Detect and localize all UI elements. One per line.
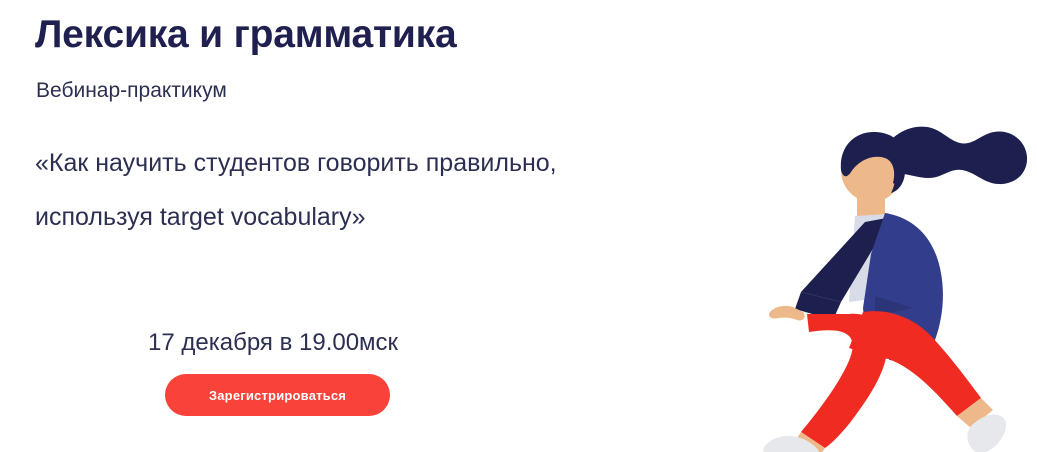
walking-woman-illustration [745,86,1037,452]
quote-line-2: используя target vocabulary» [35,190,825,244]
register-button[interactable]: Зарегистрироваться [165,374,390,416]
webinar-promo-banner: Лексика и грамматика Вебинар-практикум «… [0,0,1037,452]
event-datetime: 17 декабря в 19.00мск [148,328,398,358]
banner-subtitle: Вебинар-практикум [36,78,227,104]
page-title: Лексика и грамматика [35,12,457,58]
back-leg-trouser [801,314,887,448]
webinar-topic-quote: «Как научить студентов говорить правильн… [35,136,825,244]
banner-text-content: Лексика и грамматика Вебинар-практикум «… [35,0,825,452]
quote-line-1: «Как научить студентов говорить правильн… [35,136,825,190]
